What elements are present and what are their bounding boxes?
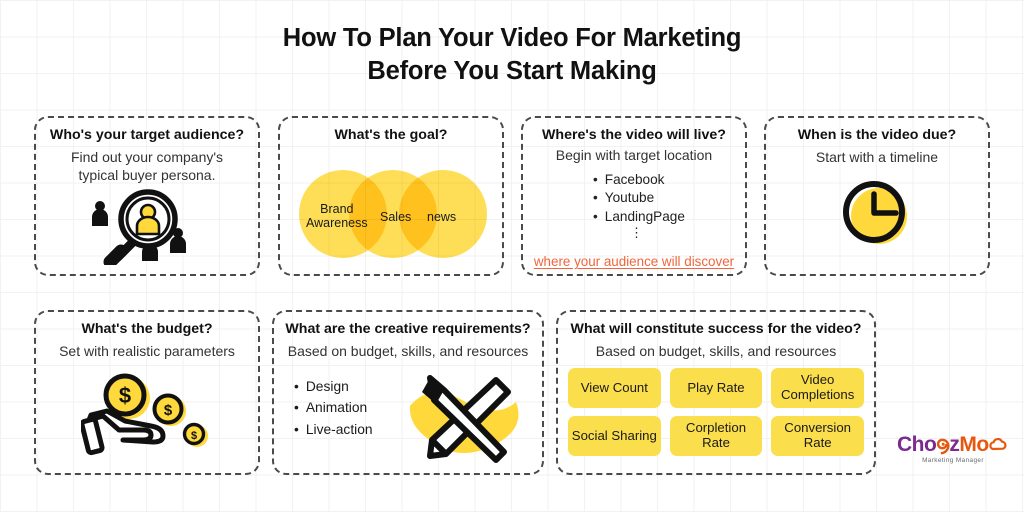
card-success-metrics: What will constitute success for the vid… bbox=[556, 310, 876, 475]
list-item: Live-action bbox=[294, 419, 373, 440]
card-due-subtitle: Start with a timeline bbox=[776, 149, 978, 167]
card-creative-requirements: What are the creative requirements? Base… bbox=[272, 310, 544, 475]
card-goal: What's the goal? Brand Awareness Sales n… bbox=[278, 116, 504, 276]
metric-chip-video-completions[interactable]: Video Completions bbox=[771, 368, 864, 408]
card-goal-title: What's the goal? bbox=[290, 127, 492, 144]
venn-label-news: news bbox=[427, 210, 456, 224]
metric-chip-conversion-rate[interactable]: Conversion Rate bbox=[771, 416, 864, 456]
list-item: Design bbox=[294, 376, 373, 397]
card-success-title: What will constitute success for the vid… bbox=[568, 321, 864, 338]
creative-type-list: Design Animation Live-action bbox=[294, 376, 373, 440]
logo-text-part-3: Mo bbox=[959, 434, 988, 455]
card-live-subtitle: Begin with target location bbox=[533, 147, 735, 165]
list-item: LandingPage bbox=[593, 208, 735, 227]
logo-tagline: Marketing Manager bbox=[897, 457, 1009, 464]
card-due-title: When is the video due? bbox=[776, 127, 978, 144]
svg-text:$: $ bbox=[191, 430, 197, 442]
venn-label-brand-awareness: Brand Awareness bbox=[306, 202, 368, 231]
card-creative-title: What are the creative requirements? bbox=[284, 321, 532, 338]
venn-diagram: Brand Awareness Sales news bbox=[280, 162, 502, 266]
metric-chip-grid: View Count Play Rate Video Completions S… bbox=[568, 368, 864, 456]
page-title: How To Plan Your Video For Marketing Bef… bbox=[0, 22, 1024, 87]
metric-chip-play-rate[interactable]: Play Rate bbox=[670, 368, 763, 408]
audience-discover-link[interactable]: where your audience will discover bbox=[523, 254, 745, 269]
logo-text-part-2: z bbox=[949, 434, 959, 455]
card-live-title: Where's the video will live? bbox=[533, 127, 735, 144]
card-video-location: Where's the video will live? Begin with … bbox=[521, 116, 747, 276]
pen-pencil-icon bbox=[400, 366, 530, 471]
card-creative-subtitle: Based on budget, skills, and resources bbox=[284, 343, 532, 361]
card-target-audience: Who's your target audience? Find out you… bbox=[34, 116, 260, 276]
card-audience-title: Who's your target audience? bbox=[46, 127, 248, 144]
venn-label-sales: Sales bbox=[380, 210, 411, 224]
list-item: Youtube bbox=[593, 189, 735, 208]
card-budget-title: What's the budget? bbox=[46, 321, 248, 338]
list-item: Animation bbox=[294, 397, 373, 418]
cloud-icon bbox=[989, 437, 1007, 453]
vertical-ellipsis-icon: ⋮ bbox=[533, 228, 735, 237]
card-audience-sub-line-2: typical buyer persona. bbox=[79, 167, 216, 183]
svg-text:$: $ bbox=[119, 383, 131, 408]
metric-chip-view-count[interactable]: View Count bbox=[568, 368, 661, 408]
platform-list: Facebook Youtube LandingPage bbox=[533, 171, 735, 227]
logo-text-part-1: Cho bbox=[897, 434, 936, 455]
svg-text:$: $ bbox=[164, 402, 173, 419]
card-success-subtitle: Based on budget, skills, and resources bbox=[568, 343, 864, 361]
spiral-icon bbox=[935, 435, 950, 455]
clock-icon bbox=[839, 176, 915, 257]
list-item: Facebook bbox=[593, 171, 735, 190]
card-video-due: When is the video due? Start with a time… bbox=[764, 116, 990, 276]
card-budget: What's the budget? Set with realistic pa… bbox=[34, 310, 260, 475]
metric-chip-corpletion-rate[interactable]: Corpletion Rate bbox=[670, 416, 763, 456]
hand-money-icon: $ $ $ bbox=[81, 370, 213, 467]
choozmo-logo[interactable]: Cho z Mo Marketing Manager bbox=[897, 434, 1009, 474]
card-budget-subtitle: Set with realistic parameters bbox=[46, 343, 248, 361]
metric-chip-social-sharing[interactable]: Social Sharing bbox=[568, 416, 661, 456]
page-title-line-2: Before You Start Making bbox=[0, 55, 1024, 88]
page-title-line-1: How To Plan Your Video For Marketing bbox=[0, 22, 1024, 55]
magnifier-people-icon bbox=[88, 189, 206, 270]
card-audience-sub-line-1: Find out your company's bbox=[71, 149, 223, 165]
